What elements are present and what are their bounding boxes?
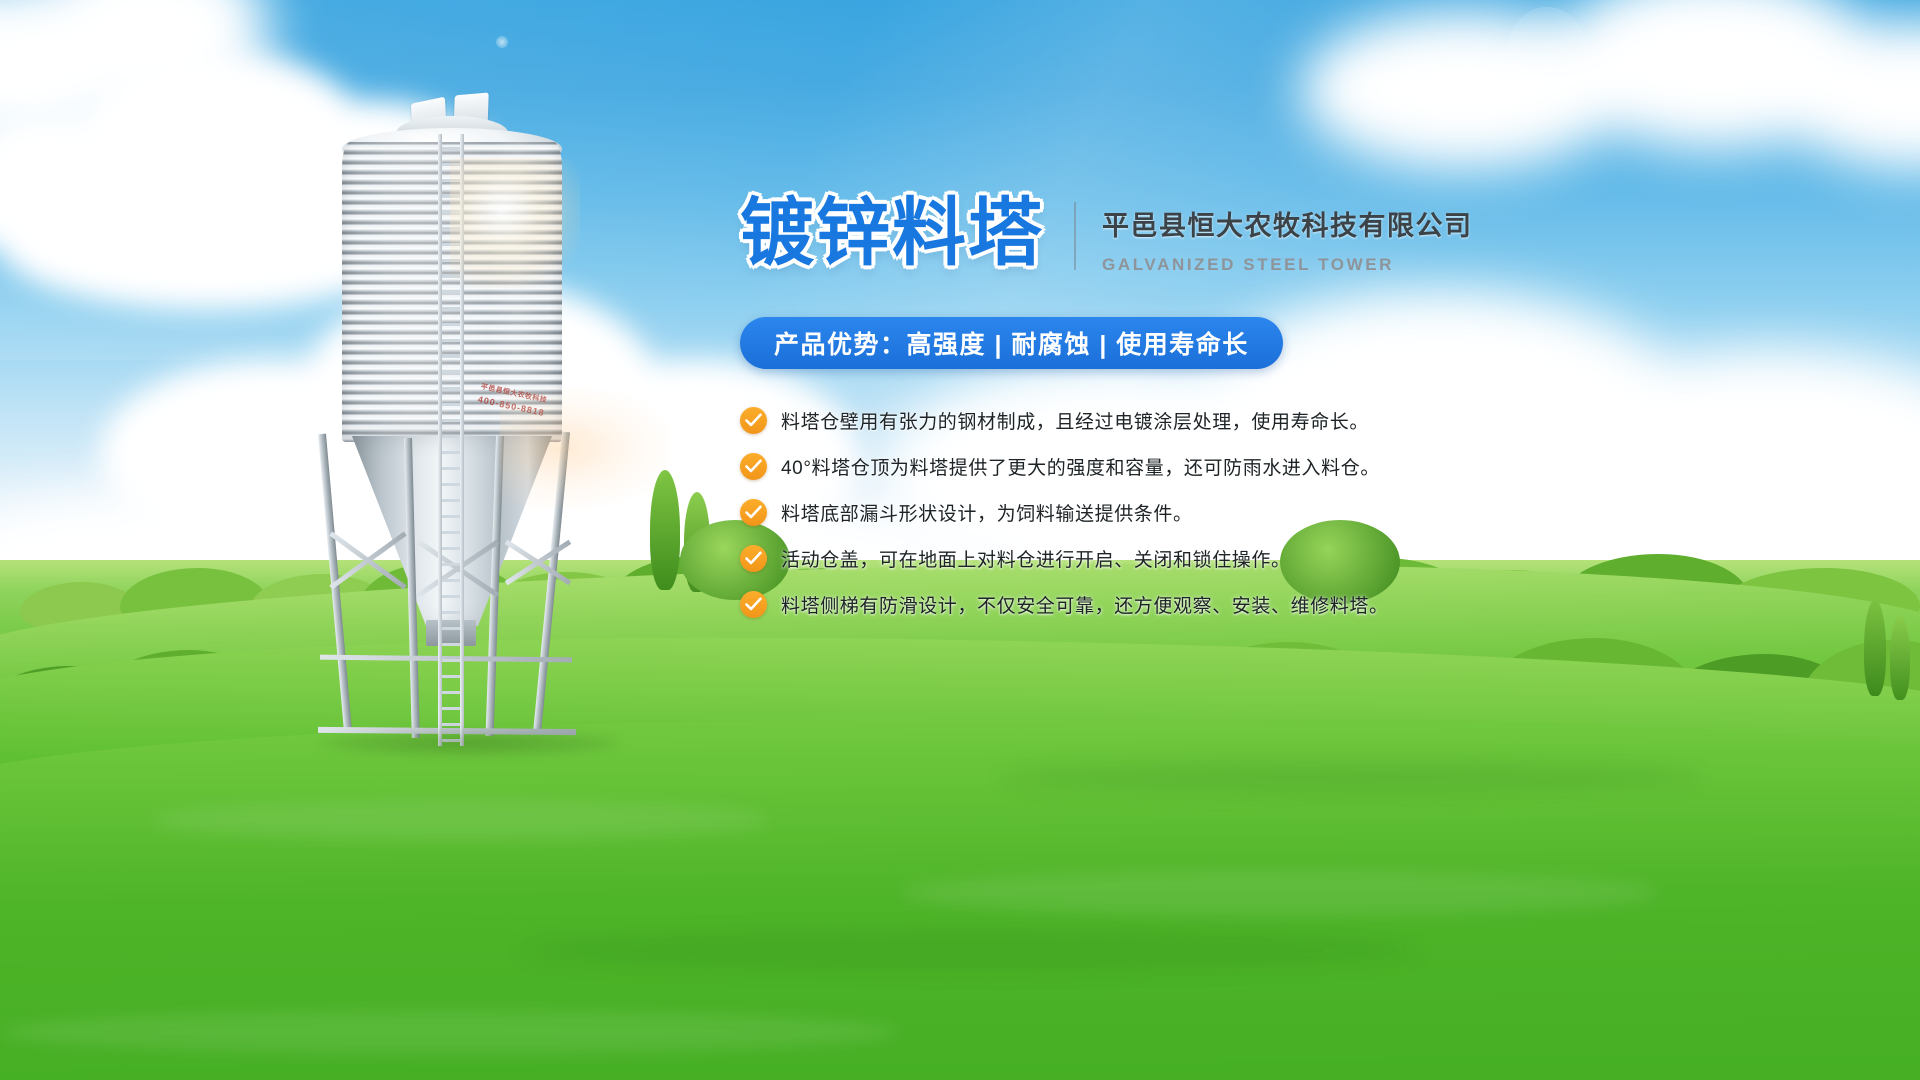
- feature-text: 料塔底部漏斗形状设计，为饲料输送提供条件。: [781, 499, 1193, 526]
- silo-ground-shadow: [320, 730, 620, 756]
- grass-highlight: [150, 800, 770, 840]
- check-circle-icon: [740, 591, 767, 618]
- list-item: 料塔仓壁用有张力的钢材制成，且经过电镀涂层处理，使用寿命长。: [740, 407, 1880, 434]
- check-circle-icon: [740, 407, 767, 434]
- list-item: 40°料塔仓顶为料塔提供了更大的强度和容量，还可防雨水进入料仓。: [740, 453, 1880, 480]
- hero-banner: 平邑县恒大农牧科技 400-850-8818 镀锌料塔 平邑县恒大农牧科技有限公…: [0, 0, 1920, 1080]
- grass-highlight: [0, 1010, 900, 1054]
- grass-shade: [1000, 760, 1700, 794]
- list-item: 活动仓盖，可在地面上对料仓进行开启、关闭和锁住操作。: [740, 545, 1880, 572]
- feature-text: 40°料塔仓顶为料塔提供了更大的强度和容量，还可防雨水进入料仓。: [781, 453, 1380, 480]
- cloud-group-top-right: [1300, 0, 1920, 200]
- galvanized-feed-silo: 平邑县恒大农牧科技 400-850-8818: [300, 88, 600, 748]
- cloud-group-upper-left: [0, 0, 340, 180]
- title-divider: [1074, 202, 1076, 270]
- silo-side-ladder: [438, 134, 464, 746]
- page-title: 镀锌料塔: [740, 196, 1044, 270]
- feature-text: 活动仓盖，可在地面上对料仓进行开启、关闭和锁住操作。: [781, 545, 1291, 572]
- company-name: 平邑县恒大农牧科技有限公司: [1102, 204, 1473, 243]
- english-subtitle: GALVANIZED STEEL TOWER: [1102, 255, 1473, 275]
- feature-list: 料塔仓壁用有张力的钢材制成，且经过电镀涂层处理，使用寿命长。 40°料塔仓顶为料…: [740, 407, 1880, 618]
- grass-shade: [520, 930, 1420, 970]
- list-item: 料塔底部漏斗形状设计，为饲料输送提供条件。: [740, 499, 1880, 526]
- small-flare-dot-icon: [496, 36, 508, 48]
- hero-text-panel: 镀锌料塔 平邑县恒大农牧科技有限公司 GALVANIZED STEEL TOWE…: [740, 196, 1880, 637]
- feature-text: 料塔仓壁用有张力的钢材制成，且经过电镀涂层处理，使用寿命长。: [781, 407, 1369, 434]
- check-circle-icon: [740, 453, 767, 480]
- title-row: 镀锌料塔 平邑县恒大农牧科技有限公司 GALVANIZED STEEL TOWE…: [740, 196, 1880, 275]
- sun-lens-flare-icon: [1508, 8, 1586, 100]
- advantage-pill[interactable]: 产品优势：高强度 | 耐腐蚀 | 使用寿命长: [740, 317, 1283, 369]
- list-item: 料塔侧梯有防滑设计，不仅安全可靠，还方便观察、安装、维修料塔。: [740, 591, 1880, 618]
- check-circle-icon: [740, 499, 767, 526]
- grass-highlight: [900, 870, 1660, 916]
- feature-text: 料塔侧梯有防滑设计，不仅安全可靠，还方便观察、安装、维修料塔。: [781, 591, 1389, 618]
- company-block: 平邑县恒大农牧科技有限公司 GALVANIZED STEEL TOWER: [1102, 196, 1473, 275]
- check-circle-icon: [740, 545, 767, 572]
